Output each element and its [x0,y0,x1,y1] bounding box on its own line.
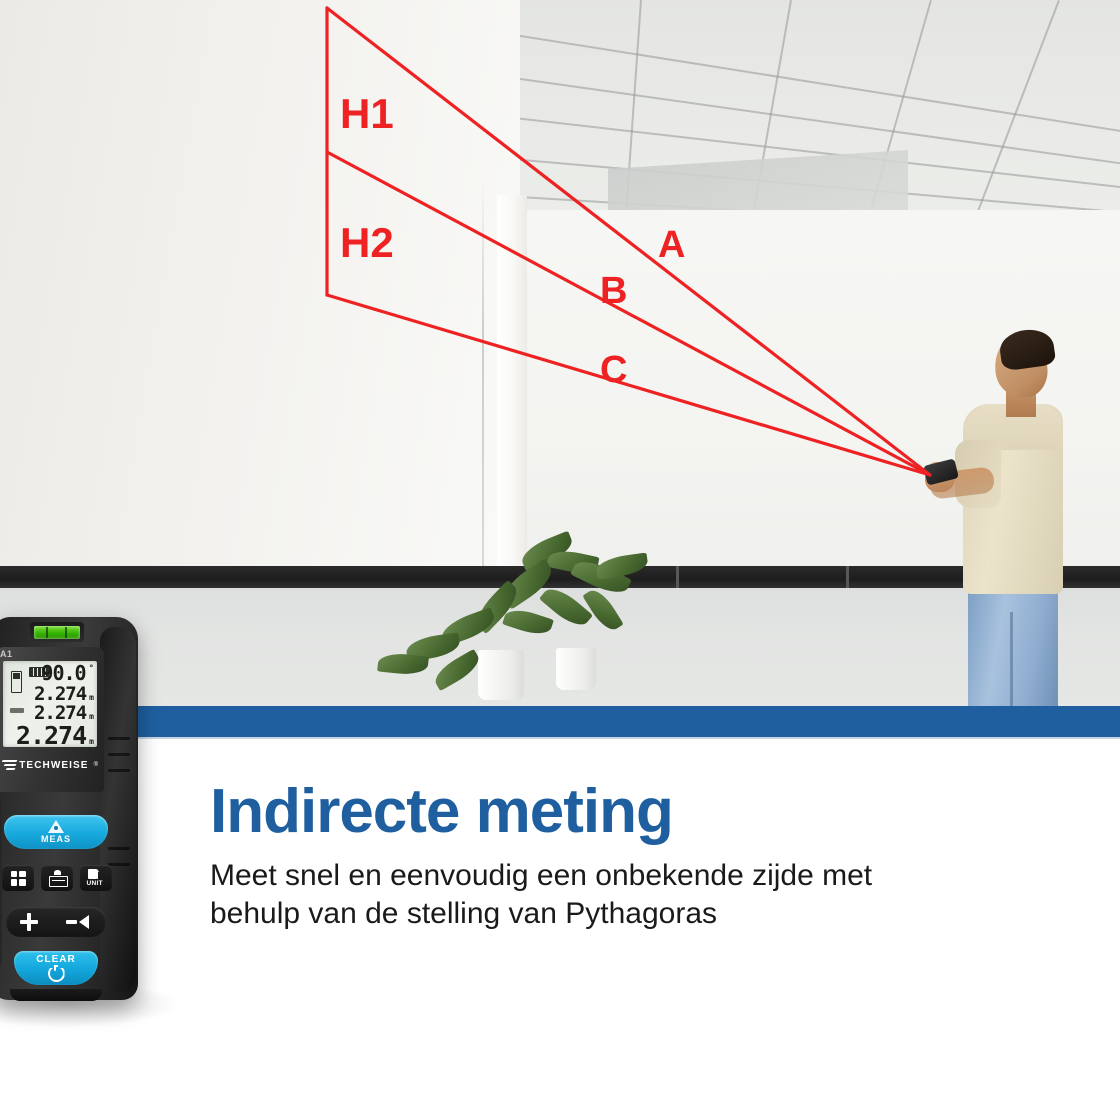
brand-trademark: ® [94,762,98,768]
room-photo: H1 H2 A B C [0,0,1120,712]
bubble-level [30,622,84,642]
bubble-level-vial [34,626,80,639]
plus-minus-button-row [6,907,106,937]
chevron-logo-icon [2,759,14,771]
grip-notch [108,769,130,772]
laser-icon [48,820,65,833]
lcd-main-result-row: 2.274 m [33,723,94,748]
lcd-value: 2.274 [16,723,86,748]
grid-icon [11,871,26,886]
minus-button[interactable] [66,914,92,930]
reference-icon [49,870,66,886]
page-title: Indirecte meting [210,780,1000,843]
function-button-row: UNIT [2,865,112,891]
product-laser-distance-meter: A1 90.0 ° 2.274 m 2.274 m [0,617,142,1002]
wall-corner-edge [482,180,484,610]
product-marketing-banner: H1 H2 A B C Indirecte meting Meet snel e… [0,0,1120,1120]
baseboard-joint [676,566,679,588]
page-subtitle: Meet snel en eenvoudig een onbekende zij… [210,857,950,933]
mode-grid-button[interactable] [2,865,34,891]
lcd-display: 90.0 ° 2.274 m 2.274 m 2.274 m [3,661,97,747]
brand-logo: TECHWEISE ® [2,757,98,773]
plant-pot [478,650,524,700]
clear-power-button[interactable]: CLEAR [14,951,98,985]
lcd-angle-value: 90.0 [41,663,85,683]
device-model-label: A1 [0,649,13,659]
person-legs [968,588,1058,712]
unit-icon: UNIT [88,869,105,888]
lcd-unit: m [89,737,94,748]
lcd-angle-row: 90.0 ° [33,663,94,683]
plus-button[interactable] [20,913,38,931]
clear-button-label: CLEAR [36,954,75,965]
unit-button-label: UNIT [87,880,103,887]
divider-hairline [0,737,1120,739]
left-wall [0,0,520,640]
meas-button[interactable]: MEAS [4,815,108,849]
device-base [10,989,102,1001]
reference-point-icon [11,671,22,693]
device-right-grip [100,627,136,992]
lcd-mode-indicator [10,708,24,713]
unit-button[interactable]: UNIT [80,865,112,891]
grip-notch [108,847,130,850]
grip-notch [108,737,130,740]
lcd-readout-rows: 90.0 ° 2.274 m 2.274 m 2.274 m [33,663,94,748]
plant-pot [556,648,596,690]
text-block: Indirecte meting Meet snel en eenvoudig … [210,780,1000,933]
blue-divider-bar [0,706,1120,737]
wall-column [497,195,527,615]
person-leg-seam [1010,612,1013,712]
reference-button[interactable] [41,865,73,891]
lcd-unit: m [89,712,94,723]
brand-name: TECHWEISE [19,760,88,771]
lcd-unit: m [89,693,94,704]
baseboard-joint [846,566,849,588]
meas-button-label: MEAS [41,834,71,844]
lcd-degree-symbol: ° [89,664,94,683]
power-icon [48,965,65,982]
grip-notch [108,753,130,756]
